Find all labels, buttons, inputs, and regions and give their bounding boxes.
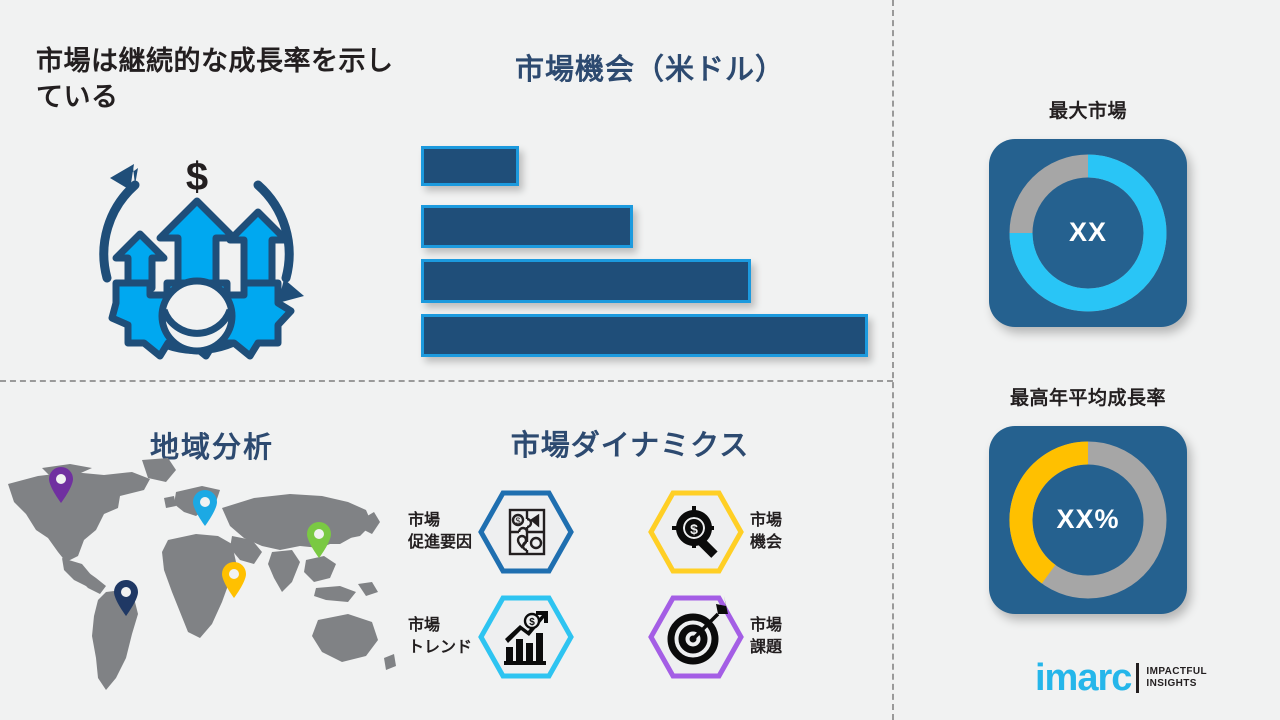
logo-wordmark: imarc — [1035, 659, 1131, 697]
opportunity-bar-chart — [421, 146, 881, 356]
donut-card-largest-market: XX — [989, 139, 1187, 327]
dynamics-item-drivers[interactable]: 市場 促進要因 $ — [408, 490, 574, 574]
donut-title-highest-cagr: 最高年平均成長率 — [958, 383, 1218, 410]
pin-middle-east[interactable] — [222, 562, 246, 598]
magnifier-dollar-icon: $ — [648, 490, 744, 574]
vertical-divider — [892, 0, 894, 720]
donut-title-largest-market: 最大市場 — [958, 96, 1218, 123]
logo-tagline: IMPACTFUL INSIGHTS — [1146, 666, 1207, 691]
dynamics-item-trends[interactable]: 市場 トレンド $ — [408, 595, 574, 679]
bar-chart-growth-icon: $ — [478, 595, 574, 679]
svg-text:$: $ — [186, 155, 208, 199]
dynamics-item-label: 市場 課題 — [750, 615, 782, 658]
puzzle-pieces-icon: $ — [478, 490, 574, 574]
dynamics-item-challenges[interactable]: 市場 課題 — [648, 595, 782, 679]
imarc-logo[interactable]: imarc IMPACTFUL INSIGHTS — [1035, 659, 1207, 697]
bar-row — [421, 314, 868, 357]
bar-row — [421, 205, 633, 248]
bar-row — [421, 259, 751, 303]
dynamics-item-label: 市場 トレンド — [408, 615, 472, 658]
pin-east-asia[interactable] — [307, 522, 331, 558]
bar-row — [421, 146, 519, 186]
dynamics-item-opportunities[interactable]: $ 市場 機会 — [648, 490, 782, 574]
opportunity-title: 市場機会（米ドル） — [420, 46, 880, 88]
donut-center-value: XX% — [989, 504, 1187, 535]
slide-canvas: 市場は継続的な成長率を示している $ — [0, 0, 1280, 720]
svg-text:$: $ — [529, 617, 535, 628]
target-dart-icon — [648, 595, 744, 679]
bar-2 — [421, 205, 633, 248]
pin-europe[interactable] — [193, 490, 217, 526]
dynamics-item-label: 市場 促進要因 — [408, 510, 472, 553]
bar-3 — [421, 259, 751, 303]
world-map — [0, 452, 400, 700]
horizontal-divider — [0, 380, 893, 382]
svg-text:$: $ — [516, 516, 521, 526]
donut-card-highest-cagr: XX% — [989, 426, 1187, 614]
growth-cycle-gear-icon: $ — [72, 128, 322, 368]
growth-title: 市場は継続的な成長率を示している — [36, 44, 396, 116]
bar-1 — [421, 146, 519, 186]
logo-divider — [1136, 663, 1139, 693]
dynamics-item-label: 市場 機会 — [750, 510, 782, 553]
donut-center-value: XX — [989, 217, 1187, 248]
svg-text:$: $ — [690, 521, 698, 537]
dynamics-title: 市場ダイナミクス — [460, 422, 800, 464]
bar-4 — [421, 314, 868, 357]
